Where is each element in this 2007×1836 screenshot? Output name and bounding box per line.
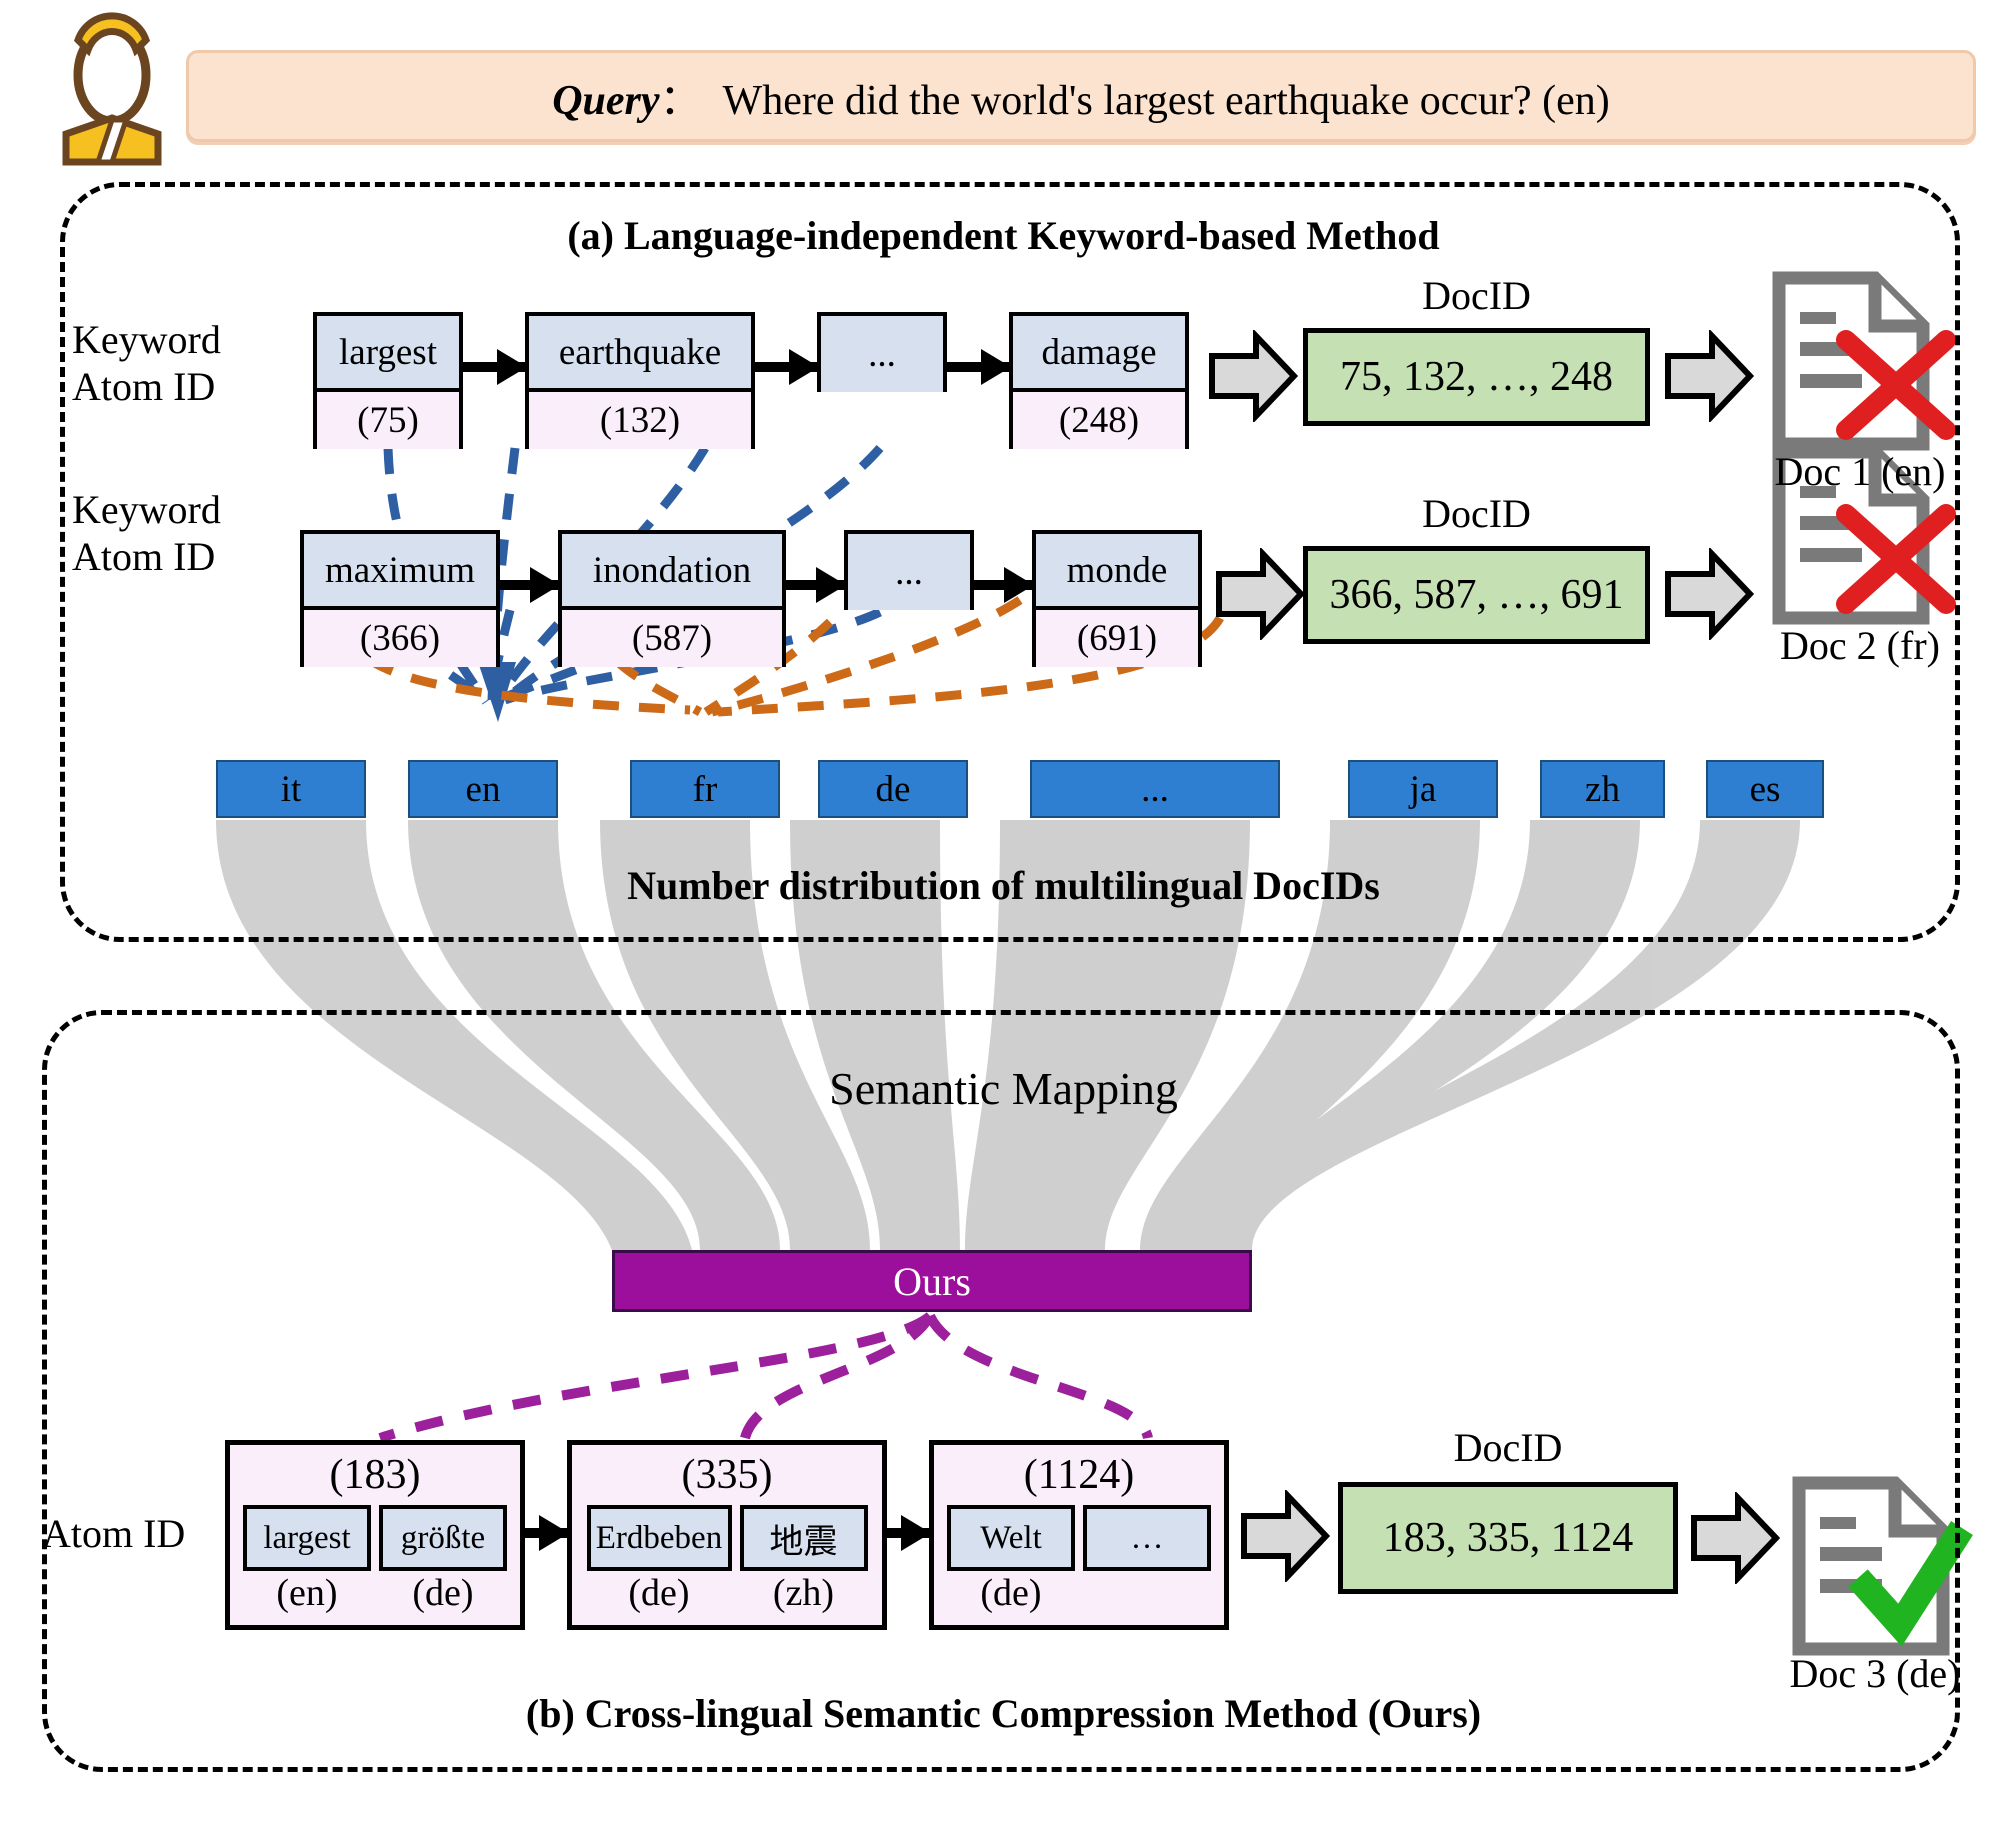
keyword-box-ellipsis-2[interactable]: ... <box>844 530 974 610</box>
keyword-word: largest <box>317 316 459 392</box>
row2-side-label: Keyword Atom ID <box>72 486 221 580</box>
panel-b-title: (b) Cross-lingual Semantic Compression M… <box>0 1690 2007 1737</box>
keyword-word: ... <box>848 534 970 610</box>
atom-box-183[interactable]: (183) largest größte (en) (de) <box>225 1440 525 1630</box>
panel-b-row-label: Atom ID <box>42 1510 185 1557</box>
keyword-word: damage <box>1013 316 1185 392</box>
row2-label-keyword: Keyword <box>72 486 221 533</box>
chain-arrow-2 <box>755 362 817 372</box>
fat-arrow-docid-to-doc3 <box>1690 1492 1780 1584</box>
keyword-box-largest[interactable]: largest (75) <box>313 312 463 449</box>
keyword-word: ... <box>821 316 943 392</box>
lang-bar-ellipsis[interactable]: ... <box>1030 760 1280 818</box>
panel-b-cross-lingual <box>42 1010 1960 1772</box>
atom-word[interactable]: größte <box>379 1505 507 1571</box>
docid-label-row2: DocID <box>1303 490 1650 537</box>
docid-box-row2: 366, 587, …, 691 <box>1303 546 1650 644</box>
atom-lang: (de) <box>379 1571 507 1615</box>
lang-bar-it[interactable]: it <box>216 760 366 818</box>
docid-label-row1: DocID <box>1303 272 1650 319</box>
doc-caption-2: Doc 2 (fr) <box>1735 622 1985 669</box>
keyword-box-monde[interactable]: monde (691) <box>1032 530 1202 667</box>
keyword-box-ellipsis-1[interactable]: ... <box>817 312 947 392</box>
atom-words: Erdbeben 地震 <box>572 1505 882 1571</box>
atom-langs: (de) (zh) <box>572 1571 882 1615</box>
docid-box-row3: 183, 335, 1124 <box>1338 1482 1678 1594</box>
fat-arrow-row1-to-doc <box>1664 330 1754 422</box>
chain-arrow-4 <box>500 580 558 590</box>
chain-arrow-6 <box>974 580 1032 590</box>
query-value: Where did the world's largest earthquake… <box>723 78 1610 124</box>
atom-id-value: (335) <box>572 1445 882 1505</box>
fat-arrow-row1-to-docid <box>1208 330 1298 422</box>
fat-arrow-atoms-to-docid <box>1240 1490 1330 1582</box>
keyword-word: earthquake <box>529 316 751 392</box>
chain-arrow-5 <box>786 580 844 590</box>
atom-chain-arrow-2 <box>887 1528 929 1538</box>
atom-lang: (de) <box>947 1571 1075 1615</box>
keyword-atom-id: (587) <box>562 610 782 667</box>
keyword-atom-id: (366) <box>304 610 496 667</box>
docid-label-row3: DocID <box>1338 1424 1678 1471</box>
query-colon: ： <box>660 78 702 124</box>
atom-word[interactable]: … <box>1083 1505 1211 1571</box>
atom-langs: (en) (de) <box>230 1571 520 1615</box>
keyword-box-damage[interactable]: damage (248) <box>1009 312 1189 449</box>
keyword-box-maximum[interactable]: maximum (366) <box>300 530 500 667</box>
atom-chain-arrow-1 <box>525 1528 567 1538</box>
atom-word[interactable]: 地震 <box>740 1505 868 1571</box>
query-text: Query： Where did the world's largest ear… <box>552 66 1610 127</box>
keyword-atom-id: (75) <box>317 392 459 449</box>
atom-word[interactable]: Welt <box>947 1505 1075 1571</box>
row1-label-keyword: Keyword <box>72 316 221 363</box>
chain-arrow-3 <box>947 362 1009 372</box>
query-label: Query <box>552 78 659 124</box>
atom-box-335[interactable]: (335) Erdbeben 地震 (de) (zh) <box>567 1440 887 1630</box>
chain-arrow-1 <box>463 362 525 372</box>
keyword-word: monde <box>1036 534 1198 610</box>
row1-side-label: Keyword Atom ID <box>72 316 221 410</box>
atom-words: largest größte <box>230 1505 520 1571</box>
atom-id-value: (1124) <box>934 1445 1224 1505</box>
lang-bar-es[interactable]: es <box>1706 760 1824 818</box>
keyword-atom-id: (248) <box>1013 392 1185 449</box>
keyword-box-inondation[interactable]: inondation (587) <box>558 530 786 667</box>
atom-lang: (en) <box>243 1571 371 1615</box>
atom-word[interactable]: Erdbeben <box>587 1505 732 1571</box>
atom-langs: (de) <box>934 1571 1224 1615</box>
atom-lang <box>1083 1571 1211 1615</box>
keyword-word: inondation <box>562 534 782 610</box>
atom-lang: (zh) <box>740 1571 868 1615</box>
lang-bar-fr[interactable]: fr <box>630 760 780 818</box>
lang-bar-ja[interactable]: ja <box>1348 760 1498 818</box>
lang-bar-en[interactable]: en <box>408 760 558 818</box>
panel-a-title: (a) Language-independent Keyword-based M… <box>0 212 2007 259</box>
keyword-word: maximum <box>304 534 496 610</box>
number-distribution-label: Number distribution of multilingual DocI… <box>0 862 2007 909</box>
keyword-box-earthquake[interactable]: earthquake (132) <box>525 312 755 449</box>
ours-bar[interactable]: Ours <box>612 1250 1252 1312</box>
atom-words: Welt … <box>934 1505 1224 1571</box>
atom-word[interactable]: largest <box>243 1505 371 1571</box>
docid-box-row1: 75, 132, …, 248 <box>1303 328 1650 426</box>
query-banner: Query： Where did the world's largest ear… <box>186 50 1976 142</box>
keyword-atom-id: (691) <box>1036 610 1198 667</box>
fat-arrow-row2-to-docid <box>1215 548 1305 640</box>
user-avatar-icon <box>66 16 158 162</box>
row2-label-atomid: Atom ID <box>72 533 221 580</box>
row1-label-atomid: Atom ID <box>72 363 221 410</box>
doc-caption-1: Doc 1 (en) <box>1735 448 1985 495</box>
semantic-mapping-label: Semantic Mapping <box>0 1062 2007 1115</box>
atom-box-1124[interactable]: (1124) Welt … (de) <box>929 1440 1229 1630</box>
atom-lang: (de) <box>587 1571 732 1615</box>
keyword-atom-id: (132) <box>529 392 751 449</box>
atom-id-value: (183) <box>230 1445 520 1505</box>
lang-bar-de[interactable]: de <box>818 760 968 818</box>
lang-bar-zh[interactable]: zh <box>1540 760 1665 818</box>
